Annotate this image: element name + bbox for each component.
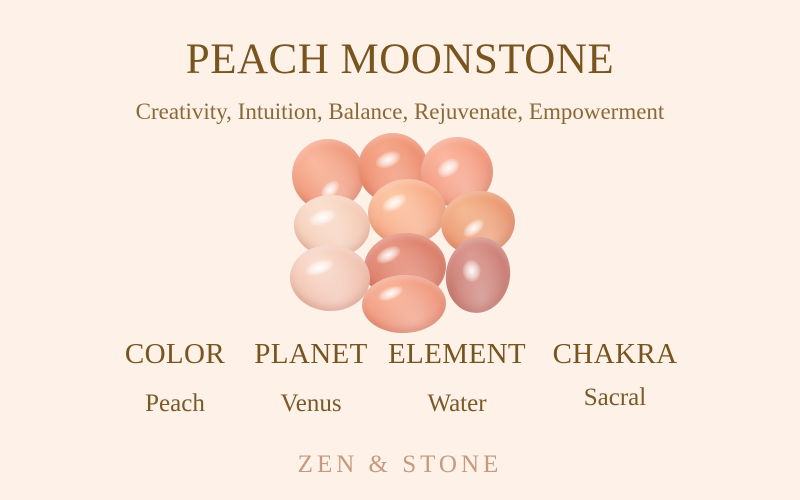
brand-logo: ZEN & STONE	[0, 452, 800, 477]
attribute-value-element: Water	[372, 391, 542, 416]
attribute-column-chakra: CHAKRA Sacral	[530, 340, 700, 410]
attribute-value-planet: Venus	[236, 391, 386, 416]
attribute-label-chakra: CHAKRA	[530, 340, 700, 369]
attribute-column-color: COLOR Peach	[100, 340, 250, 416]
attribute-label-planet: PLANET	[236, 340, 386, 369]
attributes-table: COLOR Peach PLANET Venus ELEMENT Water C…	[100, 340, 700, 430]
peach-moonstone-card: PEACH MOONSTONE Creativity, Intuition, B…	[0, 0, 800, 500]
page-subtitle: Creativity, Intuition, Balance, Rejuvena…	[0, 100, 800, 123]
attribute-label-color: COLOR	[100, 340, 250, 369]
attribute-value-chakra: Sacral	[530, 385, 700, 410]
attribute-column-planet: PLANET Venus	[236, 340, 386, 416]
stone-low-left	[289, 244, 371, 313]
attribute-value-color: Peach	[100, 391, 250, 416]
stone-body	[361, 274, 447, 335]
stone-bottom	[361, 274, 447, 335]
attribute-label-element: ELEMENT	[372, 340, 542, 369]
stone-body	[289, 244, 371, 313]
attribute-column-element: ELEMENT Water	[372, 340, 542, 416]
page-title: PEACH MOONSTONE	[0, 38, 800, 81]
gemstone-cluster-image	[278, 133, 526, 331]
